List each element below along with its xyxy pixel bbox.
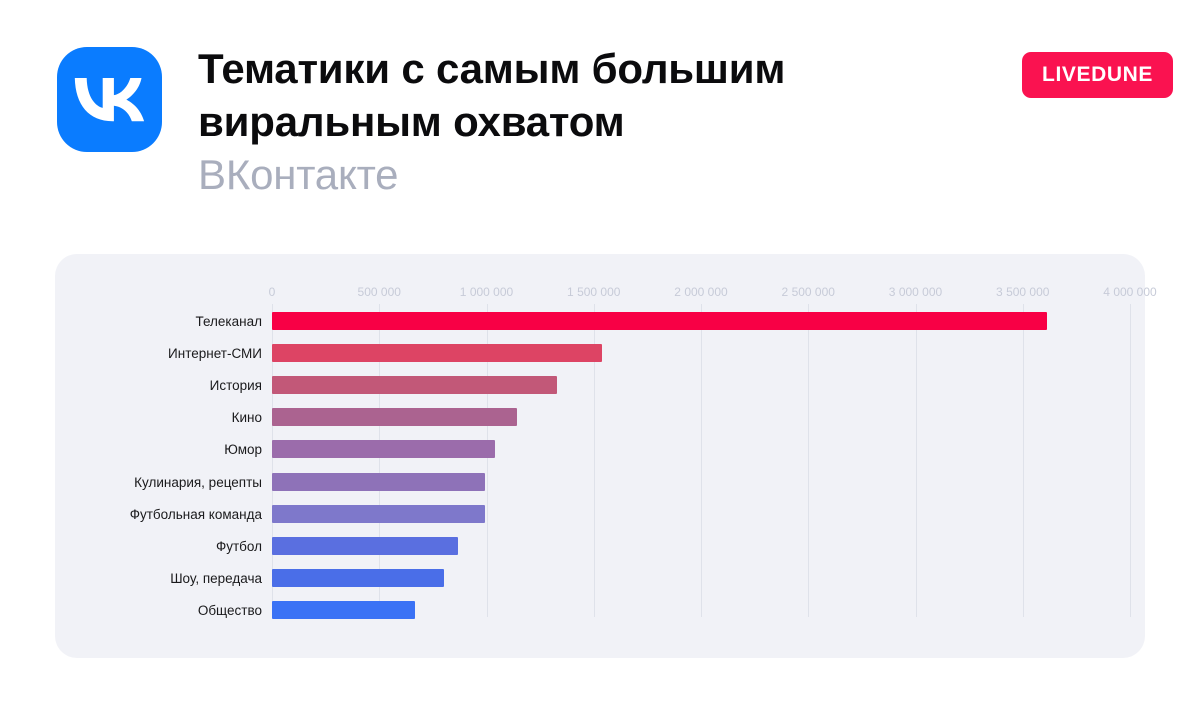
category-label: История bbox=[12, 377, 262, 395]
bar[interactable] bbox=[272, 344, 602, 362]
bar[interactable] bbox=[272, 537, 458, 555]
category-label: Телеканал bbox=[12, 313, 262, 331]
bar[interactable] bbox=[272, 569, 444, 587]
bar[interactable] bbox=[272, 312, 1047, 330]
chart-card: 0500 0001 000 0001 500 0002 000 0002 500… bbox=[55, 254, 1145, 658]
bar[interactable] bbox=[272, 505, 485, 523]
bar[interactable] bbox=[272, 376, 557, 394]
category-label: Интернет-СМИ bbox=[12, 345, 262, 363]
bar[interactable] bbox=[272, 440, 495, 458]
category-labels: ТелеканалИнтернет-СМИИсторияКиноЮморКули… bbox=[12, 254, 262, 658]
category-label: Кулинария, рецепты bbox=[12, 474, 262, 492]
category-label: Шоу, передача bbox=[12, 570, 262, 588]
vk-logo bbox=[57, 47, 162, 152]
title-line-2: виральным охватом bbox=[198, 95, 938, 148]
category-label: Юмор bbox=[12, 441, 262, 459]
page-title: Тематики с самым большим виральным охват… bbox=[198, 42, 938, 202]
category-label: Футбол bbox=[12, 538, 262, 556]
bar[interactable] bbox=[272, 601, 415, 619]
bar[interactable] bbox=[272, 408, 517, 426]
brand-badge-livedune: LIVEDUNE bbox=[1022, 52, 1173, 98]
title-line-1: Тематики с самым большим bbox=[198, 42, 938, 95]
category-label: Общество bbox=[12, 602, 262, 620]
page-subtitle: ВКонтакте bbox=[198, 148, 938, 202]
category-label: Футбольная команда bbox=[12, 506, 262, 524]
category-label: Кино bbox=[12, 409, 262, 427]
header: Тематики с самым большим виральным охват… bbox=[0, 0, 1200, 230]
bar[interactable] bbox=[272, 473, 485, 491]
bar-chart: 0500 0001 000 0001 500 0002 000 0002 500… bbox=[55, 254, 1145, 658]
bars: ТелеканалИнтернет-СМИИсторияКиноЮморКули… bbox=[55, 254, 1145, 658]
